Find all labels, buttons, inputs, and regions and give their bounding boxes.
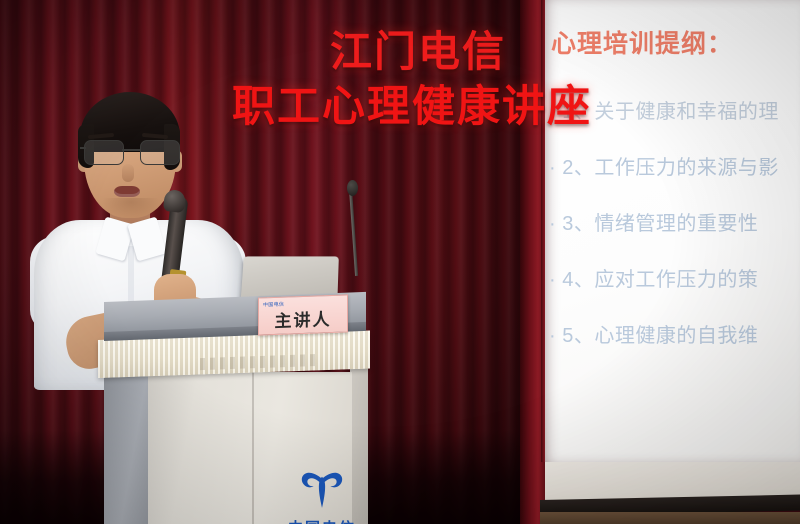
slide-bullet-2: · 2、工作压力的来源与影 (549, 151, 800, 180)
slide-bullet-1: · 1、关于健康和幸福的理 (549, 95, 800, 124)
bullet-marker-icon: · (549, 269, 556, 291)
speaker-nameplate: 中国电信 主讲人 (258, 294, 348, 335)
slide-bullet-5-text: 5、心理健康的自我维 (562, 325, 758, 347)
gooseneck-microphone-head-icon (347, 180, 358, 196)
chin-shadow (102, 198, 160, 218)
china-telecom-icon (296, 458, 348, 510)
floor-strip (540, 512, 800, 524)
slide-bullet-4-text: 4、应对工作压力的策 (562, 269, 758, 291)
china-telecom-logo-cn: 中国电信 (266, 517, 378, 524)
slide-bullet-5: · 5、心理健康的自我维 (549, 319, 800, 348)
glasses-bridge (122, 149, 140, 151)
podium: 中国电信 CHINA TELECOM (104, 302, 366, 524)
mouth (114, 186, 140, 197)
slide-bullet-3: · 3、情绪管理的重要性 (549, 207, 800, 236)
glasses-lens-left (84, 140, 124, 165)
bullet-marker-icon: · (549, 157, 556, 179)
presentation-slide: 心理培训提纲： · 1、关于健康和幸福的理 · 2、工作压力的来源与影 · 3、… (545, 0, 800, 462)
glasses-temple (80, 147, 86, 149)
glasses-icon (80, 140, 182, 164)
podium-seam (252, 372, 254, 524)
bullet-marker-icon: · (549, 101, 556, 123)
podium-left-column (104, 368, 150, 524)
bullet-marker-icon: · (549, 213, 556, 235)
nameplate-text: 主讲人 (259, 304, 347, 332)
slide-title: 心理培训提纲： (551, 24, 800, 60)
slide-bullet-4: · 4、应对工作压力的策 (549, 263, 800, 292)
slide-bullet-1-text: 1、关于健康和幸福的理 (562, 101, 779, 123)
slide-bullet-list: · 1、关于健康和幸福的理 · 2、工作压力的来源与影 · 3、情绪管理的重要性… (549, 95, 800, 375)
microphone-head (163, 189, 187, 213)
slide-bullet-2-text: 2、工作压力的来源与影 (562, 157, 779, 179)
china-telecom-logo: 中国电信 CHINA TELECOM (266, 458, 378, 524)
podium-front-panel: 中国电信 CHINA TELECOM (148, 372, 352, 524)
bullet-marker-icon: · (549, 325, 556, 347)
glasses-lens-right (140, 140, 180, 165)
slide-bullet-3-text: 3、情绪管理的重要性 (562, 213, 758, 235)
photo-scene: 心理培训提纲： · 1、关于健康和幸福的理 · 2、工作压力的来源与影 · 3、… (0, 0, 800, 524)
nose (122, 164, 134, 182)
